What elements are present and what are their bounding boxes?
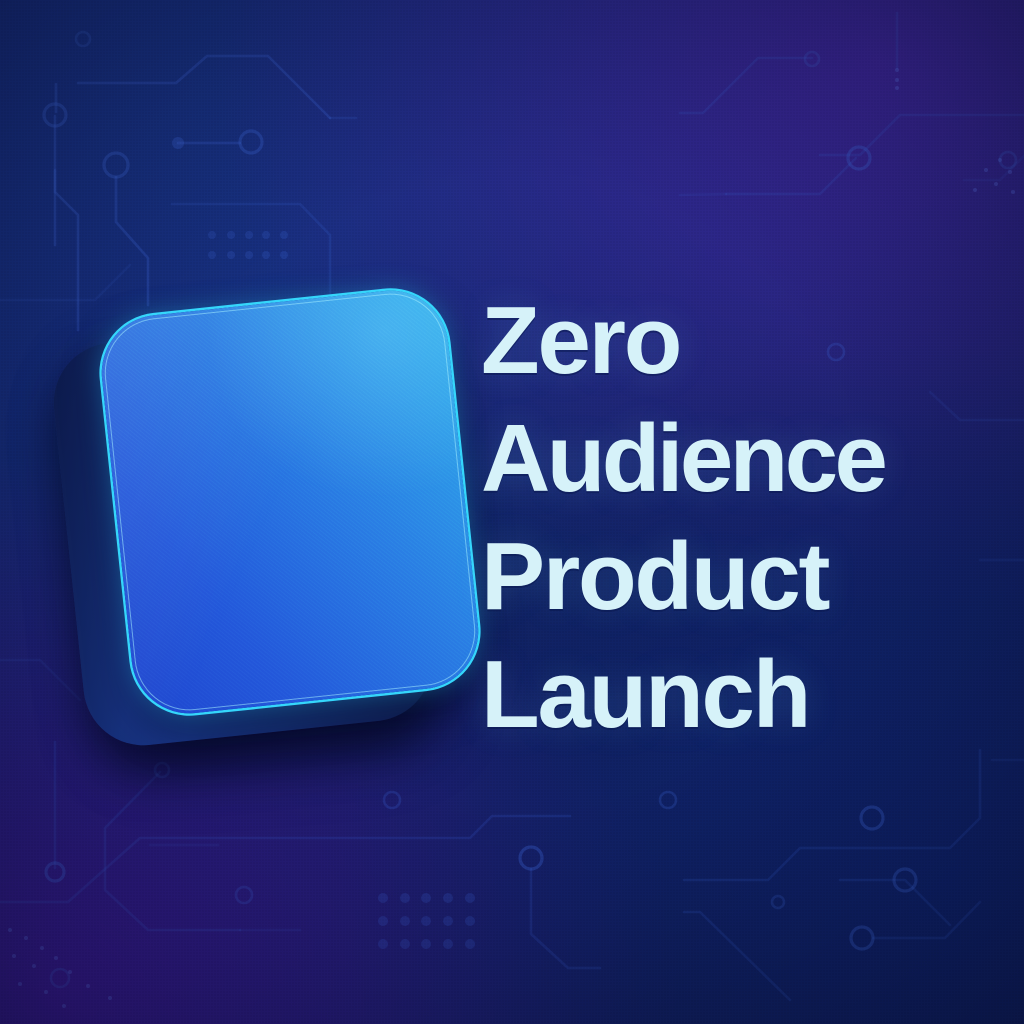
product-card-graphic [64,296,484,766]
headline-line-4: Launch [481,636,1001,754]
headline-line-3: Product [481,518,1001,636]
card-face-texture [96,285,484,719]
headline: Zero Audience Product Launch [481,282,1001,754]
headline-line-1: Zero [481,282,1001,400]
headline-line-2: Audience [481,400,1001,518]
card-front-face [96,285,484,719]
poster-canvas: Zero Audience Product Launch [0,0,1024,1024]
